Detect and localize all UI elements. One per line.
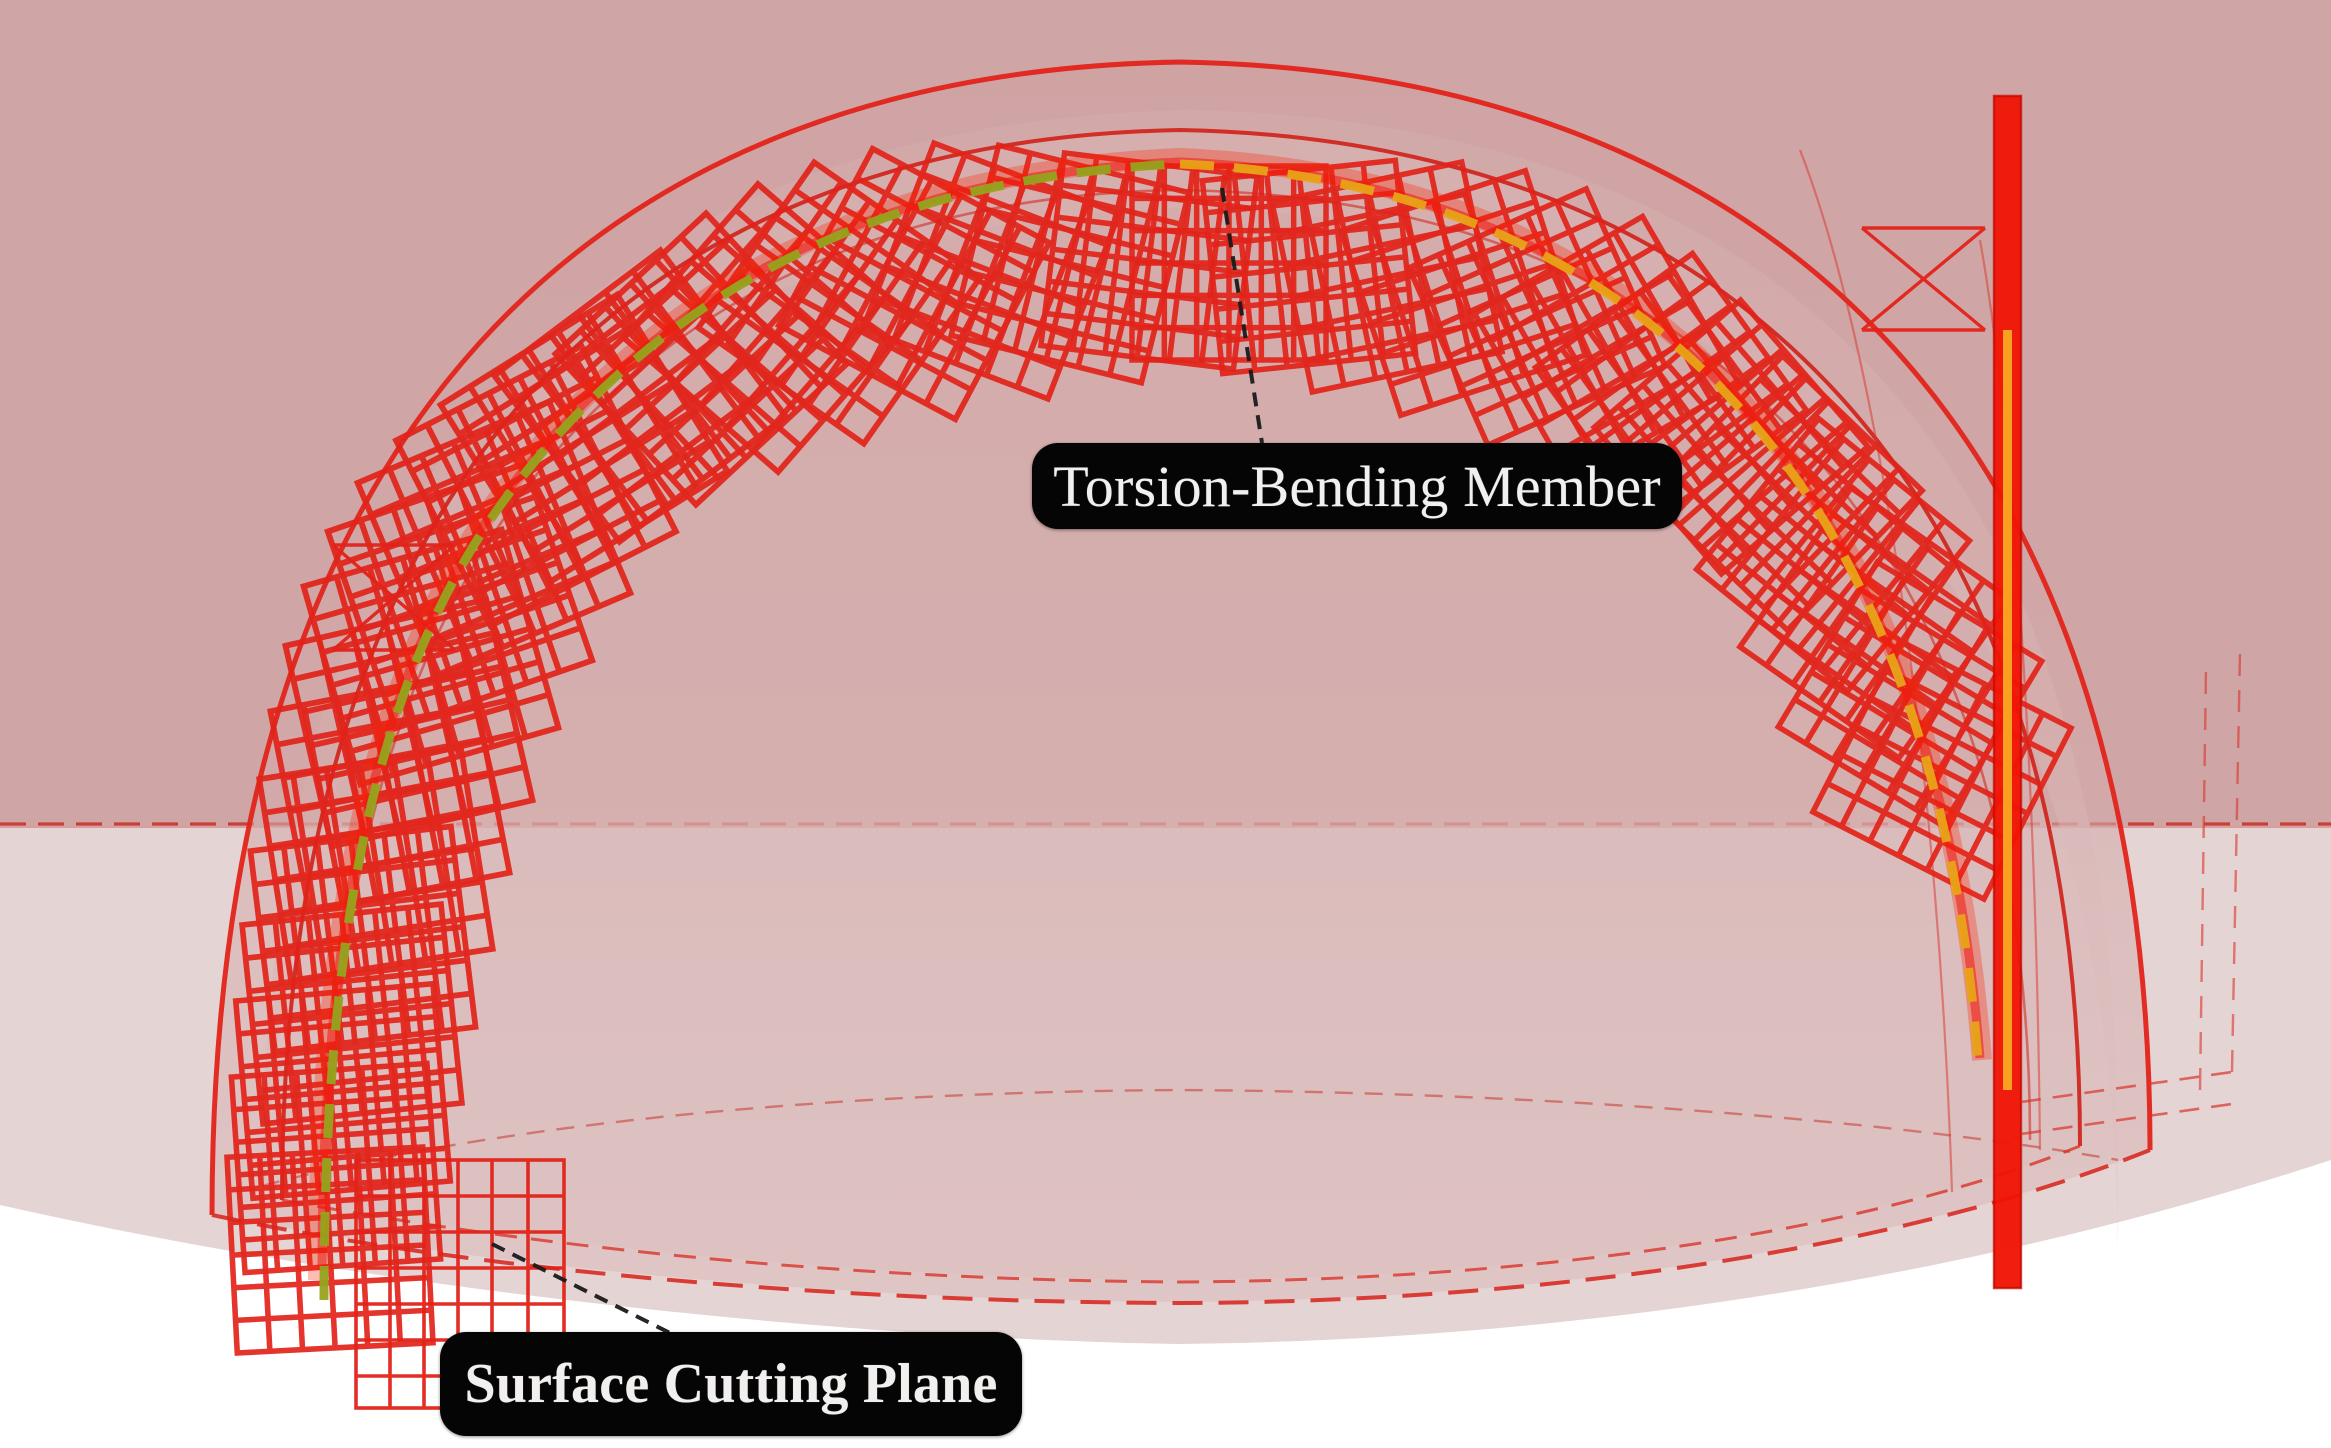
callout-surface-cutting-plane: Surface Cutting Plane (440, 1332, 1022, 1436)
dome-wireframe-svg (0, 0, 2331, 1448)
figure-canvas: Torsion-Bending Member Surface Cutting P… (0, 0, 2331, 1448)
callout-torsion-bending-member-label: Torsion-Bending Member (1053, 453, 1661, 520)
dome-3d-scene (0, 0, 2331, 1448)
support-column (1994, 96, 2021, 1288)
callout-surface-cutting-plane-label: Surface Cutting Plane (464, 1352, 997, 1416)
callout-torsion-bending-member: Torsion-Bending Member (1032, 443, 1682, 529)
